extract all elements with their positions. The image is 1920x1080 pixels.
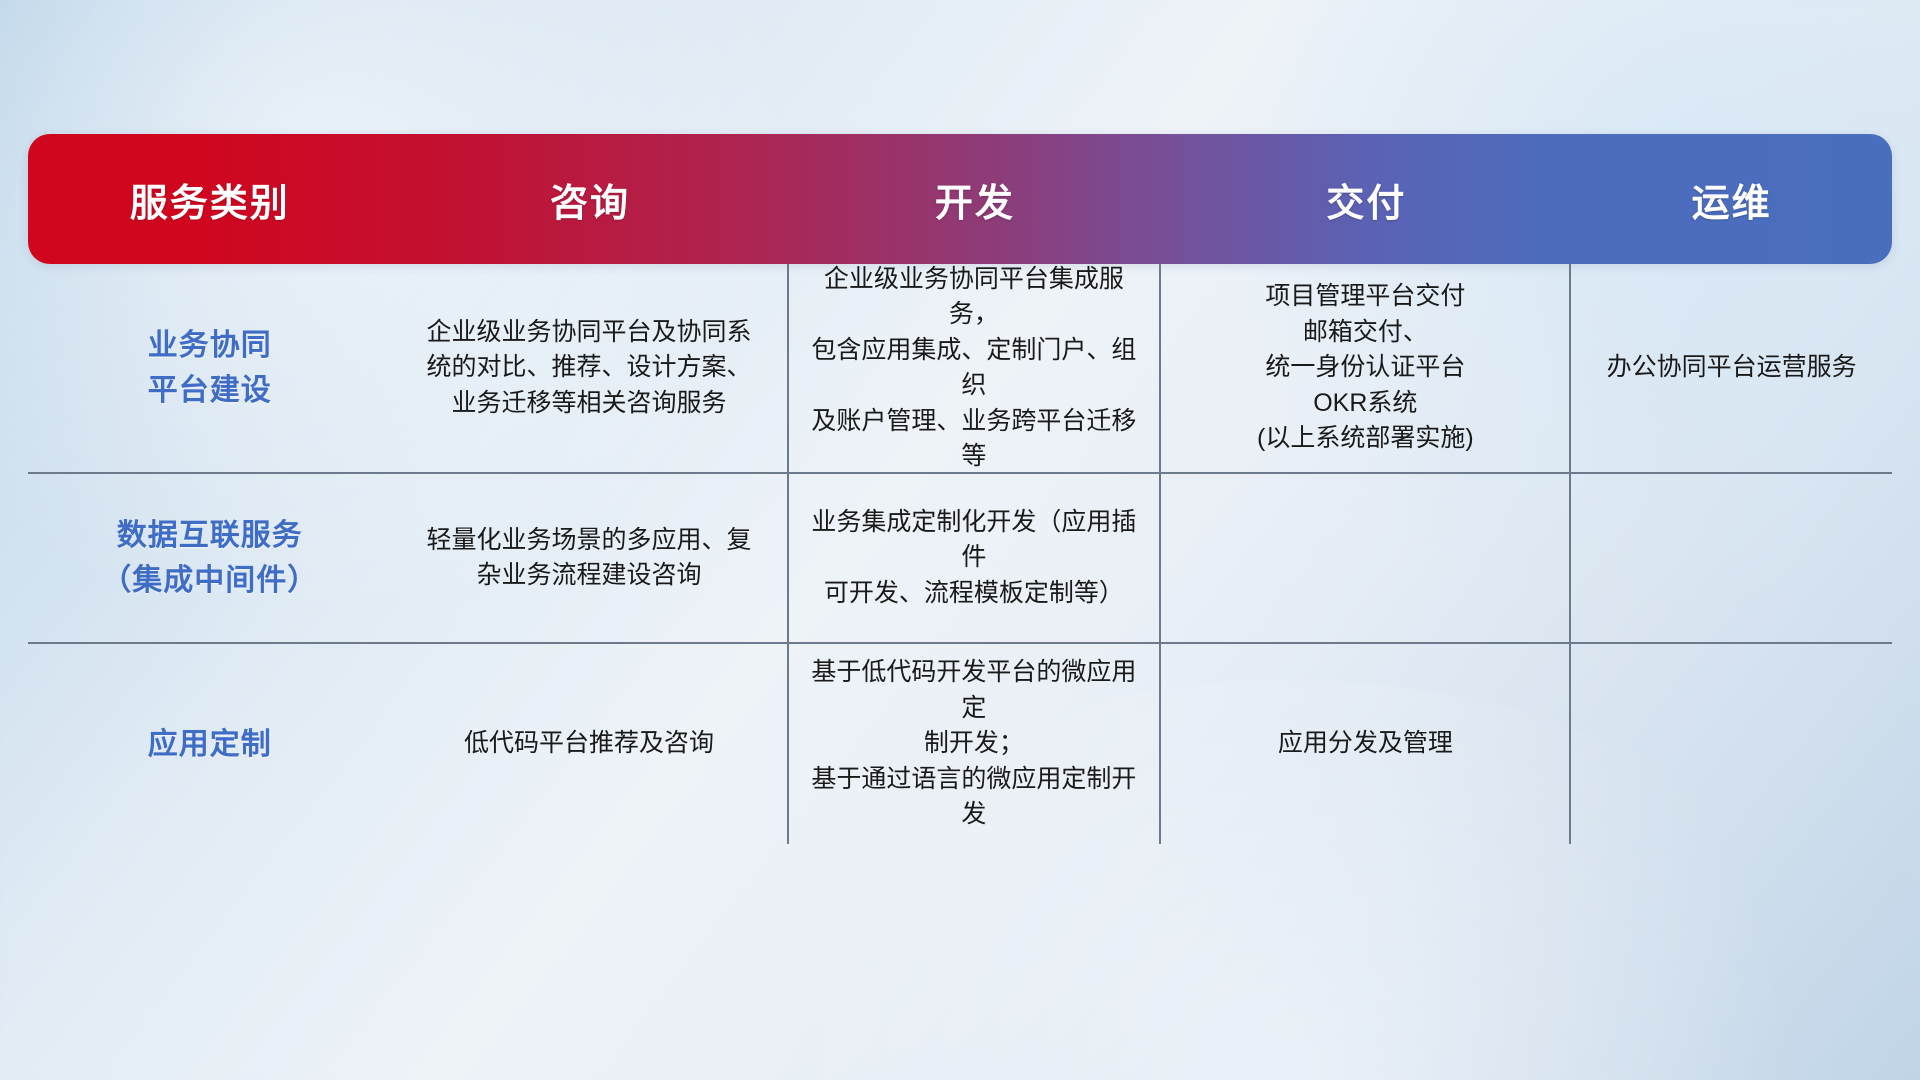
row-category-label: 业务协同 平台建设 [28,264,391,472]
cell-development: 基于低代码开发平台的微应用定 制开发； 基于通过语言的微应用定制开发 [789,644,1162,844]
cell-delivery: 应用分发及管理 [1161,644,1571,844]
cell-delivery: 项目管理平台交付 邮箱交付、 统一身份认证平台 OKR系统 (以上系统部署实施) [1161,264,1571,472]
table-body: 业务协同 平台建设 企业级业务协同平台及协同系 统的对比、推荐、设计方案、 业务… [28,264,1892,844]
table-row: 应用定制 低代码平台推荐及咨询 基于低代码开发平台的微应用定 制开发； 基于通过… [28,644,1892,844]
cell-delivery [1161,474,1571,642]
cell-consulting: 轻量化业务场景的多应用、复 杂业务流程建设咨询 [391,474,788,642]
cell-operations [1571,644,1892,844]
table-header-cell-development: 开发 [789,134,1162,264]
cell-consulting: 低代码平台推荐及咨询 [391,644,788,844]
table-header-row: 服务类别 咨询 开发 交付 运维 [28,134,1892,264]
table-row: 业务协同 平台建设 企业级业务协同平台及协同系 统的对比、推荐、设计方案、 业务… [28,264,1892,474]
table-row: 数据互联服务 （集成中间件） 轻量化业务场景的多应用、复 杂业务流程建设咨询 业… [28,474,1892,644]
cell-operations: 办公协同平台运营服务 [1571,264,1892,472]
row-category-label: 数据互联服务 （集成中间件） [28,474,391,642]
service-matrix-table: 服务类别 咨询 开发 交付 运维 业务协同 平台建设 企业级业务协同平台及协同系… [28,134,1892,844]
cell-consulting: 企业级业务协同平台及协同系 统的对比、推荐、设计方案、 业务迁移等相关咨询服务 [391,264,788,472]
table-header-cell-consulting: 咨询 [391,134,788,264]
cell-operations [1571,474,1892,642]
table-header-cell-category: 服务类别 [28,134,391,264]
table-header-cell-operations: 运维 [1571,134,1892,264]
cell-development: 企业级业务协同平台集成服务， 包含应用集成、定制门户、组织 及账户管理、业务跨平… [789,264,1162,472]
row-category-label: 应用定制 [28,644,391,844]
table-header-cell-delivery: 交付 [1161,134,1571,264]
cell-development: 业务集成定制化开发（应用插件 可开发、流程模板定制等） [789,474,1162,642]
